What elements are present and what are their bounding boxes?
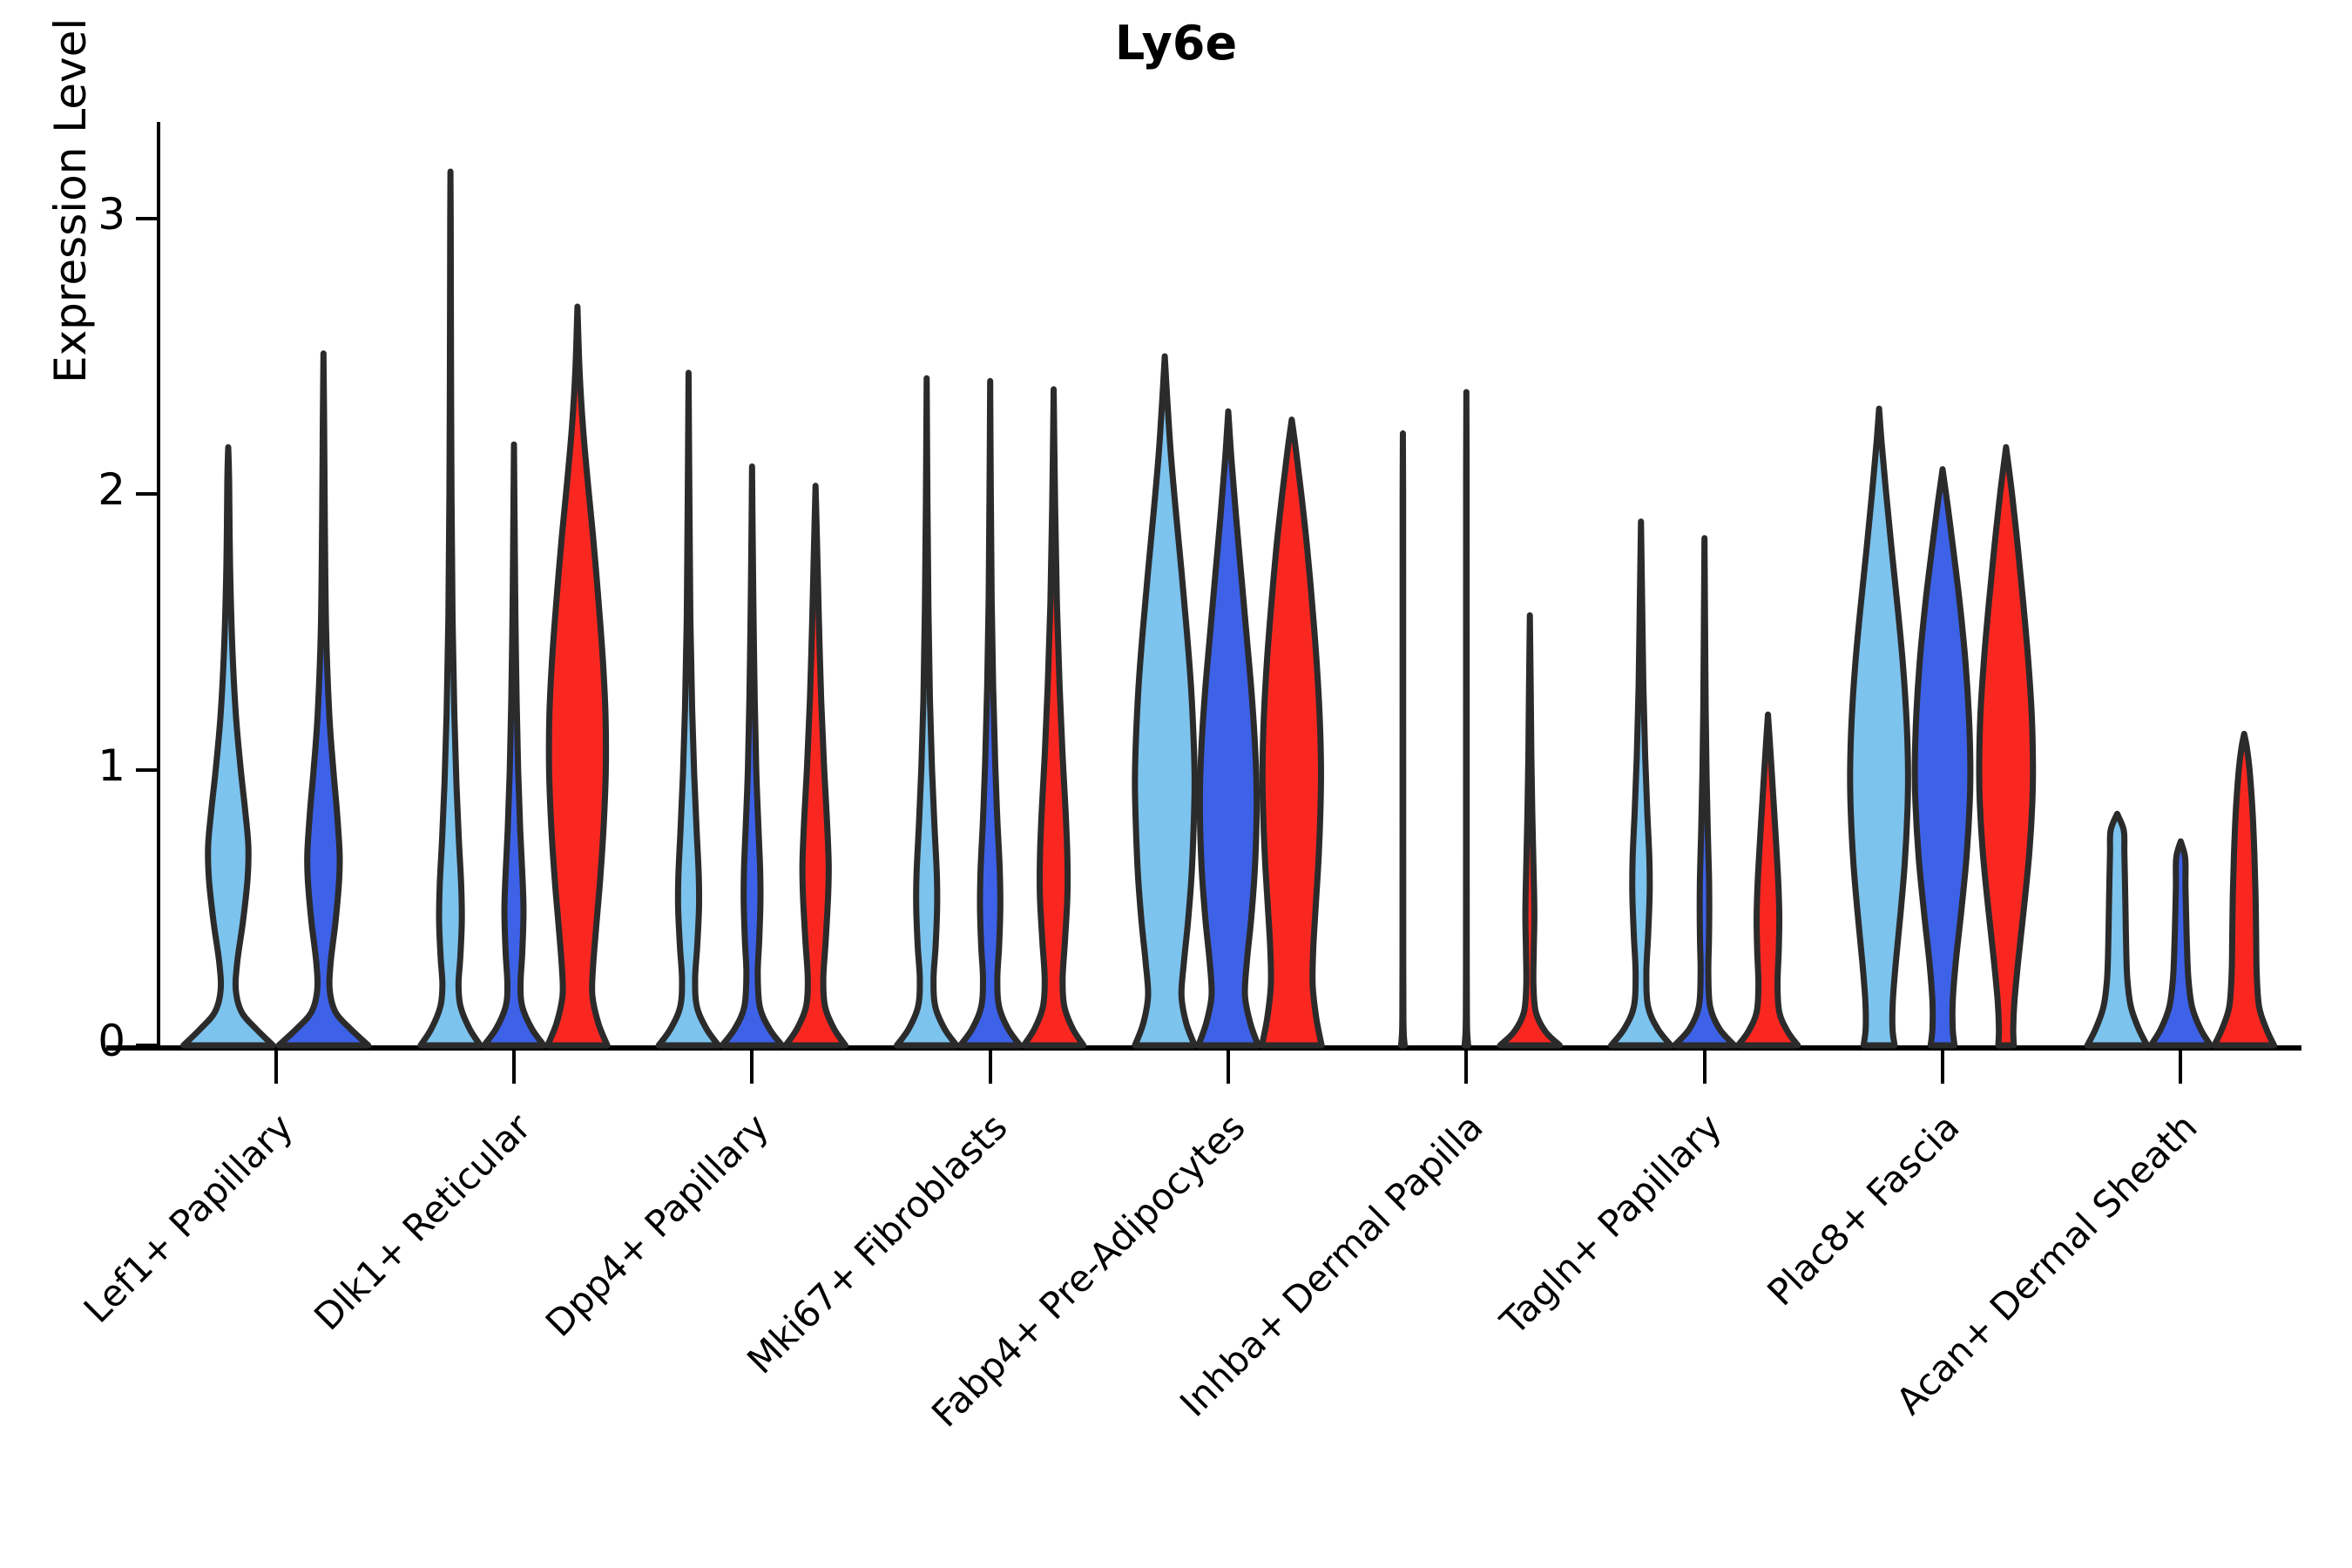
x-tick-mark (512, 1051, 516, 1084)
y-tick-label: 3 (49, 189, 125, 240)
violin-7-red (1979, 447, 2033, 1045)
x-tick-mark (1941, 1051, 1944, 1084)
x-tick-mark (2179, 1051, 2182, 1084)
y-tick-mark (136, 1044, 157, 1047)
violin-2-red (786, 486, 846, 1045)
violin-5-red (1500, 615, 1560, 1045)
x-tick-label-0: Lef1+ Papillary (75, 1105, 301, 1331)
x-tick-mark (1703, 1051, 1707, 1084)
violin-3-royal-blue (960, 381, 1020, 1045)
violin-1-royal-blue (484, 444, 544, 1045)
violin-1-light-blue (421, 172, 481, 1045)
page-title: Ly6e (0, 16, 2352, 71)
x-tick-mark (989, 1051, 992, 1084)
violin-5-light-blue (1401, 434, 1404, 1045)
y-tick-mark (136, 217, 157, 220)
plot-area: Expression Level 0123 Lef1+ PapillaryDlk… (157, 122, 2300, 1045)
x-tick-label-1: Dlk1+ Reticular (306, 1105, 538, 1338)
y-tick-label: 1 (49, 740, 125, 791)
violin-4-light-blue (1135, 356, 1195, 1045)
violin-3-red (1024, 389, 1084, 1045)
x-tick-label-3: Mki67+ Fibroblasts (739, 1105, 1015, 1382)
x-tick-label-7: Plac8+ Fascia (1759, 1105, 1967, 1314)
x-tick-mark (274, 1051, 278, 1084)
violin-plot-figure: Ly6e Expression Level 0123 Lef1+ Papilla… (0, 0, 2352, 1568)
x-tick-mark (750, 1051, 754, 1084)
x-tick-mark (1464, 1051, 1468, 1084)
violin-5-royal-blue (1464, 392, 1468, 1045)
violin-2-royal-blue (722, 467, 782, 1045)
x-tick-mark (1227, 1051, 1230, 1084)
violin-8-royal-blue (2151, 841, 2211, 1045)
violin-3-light-blue (897, 378, 957, 1045)
violin-4-royal-blue (1199, 411, 1259, 1045)
x-tick-label-2: Dpp4+ Papillary (537, 1105, 777, 1345)
violin-1-red (548, 307, 608, 1045)
x-tick-label-6: Tagln+ Papillary (1492, 1105, 1730, 1343)
violin-6-light-blue (1612, 522, 1672, 1045)
violin-6-red (1738, 714, 1798, 1045)
y-tick-label: 0 (49, 1016, 125, 1066)
violin-8-light-blue (2087, 814, 2147, 1045)
violin-0-light-blue (184, 447, 274, 1045)
violin-2-light-blue (659, 373, 719, 1045)
violin-6-royal-blue (1674, 538, 1734, 1045)
violin-7-royal-blue (1915, 470, 1970, 1045)
violin-7-light-blue (1850, 409, 1909, 1045)
y-tick-mark (136, 492, 157, 496)
violin-8-red (2214, 733, 2274, 1045)
y-tick-mark (136, 768, 157, 772)
y-tick-label: 2 (49, 464, 125, 515)
violin-4-red (1262, 420, 1322, 1045)
violin-shapes (157, 122, 2300, 1045)
violin-0-royal-blue (279, 354, 368, 1045)
